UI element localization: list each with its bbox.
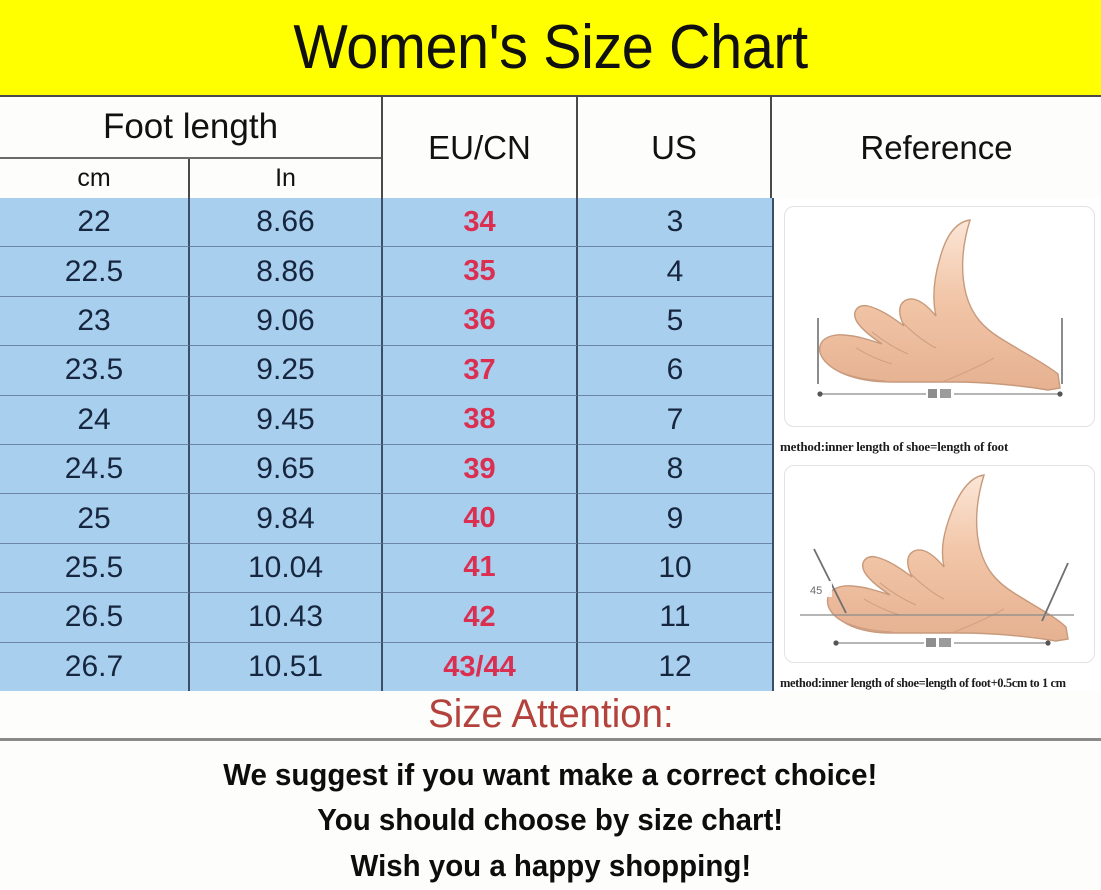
cell-cm: 23.5 — [0, 346, 190, 395]
cell-in: 10.04 — [190, 544, 383, 593]
cell-eu: 38 — [383, 396, 578, 445]
foot-length-subheaders: cm In — [0, 159, 381, 198]
cell-us: 10 — [578, 544, 772, 593]
page-title: Women's Size Chart — [293, 17, 807, 79]
note-line: You should choose by size chart! — [318, 797, 784, 842]
cell-eu: 36 — [383, 297, 578, 346]
table-body: 22 8.66 34 3 22.5 8.86 35 4 23 9.06 36 5 — [0, 198, 772, 693]
size-chart-page: Women's Size Chart Foot length cm In EU/… — [0, 0, 1101, 890]
size-table: Foot length cm In EU/CN US Reference 22 … — [0, 95, 1101, 691]
cell-eu: 35 — [383, 247, 578, 296]
cell-eu: 34 — [383, 198, 578, 247]
cell-eu: 37 — [383, 346, 578, 395]
cell-cm: 22 — [0, 198, 190, 247]
note-line: Wish you a happy shopping! — [350, 843, 751, 888]
cell-cm: 26.5 — [0, 593, 190, 642]
cell-eu: 41 — [383, 544, 578, 593]
cell-cm: 25 — [0, 494, 190, 543]
reference-image-1: method:inner length of shoe=length of fo… — [774, 198, 1101, 457]
reference-caption-2: method:inner length of shoe=length of fo… — [780, 676, 1101, 691]
cell-us: 7 — [578, 396, 772, 445]
column-header-in: In — [190, 159, 381, 198]
reference-caption-1: method:inner length of shoe=length of fo… — [780, 439, 1101, 455]
foot-length-label: Foot length — [0, 97, 381, 159]
cell-us: 9 — [578, 494, 772, 543]
cell-cm: 23 — [0, 297, 190, 346]
reference-image-2: 45 method:inner length of shoe=length of… — [774, 457, 1101, 693]
cell-in: 9.45 — [190, 396, 383, 445]
foot-length-group-header: Foot length cm In — [0, 97, 383, 198]
cell-us: 3 — [578, 198, 772, 247]
svg-text:45: 45 — [810, 585, 822, 597]
reference-column: method:inner length of shoe=length of fo… — [772, 198, 1101, 693]
attention-notes: We suggest if you want make a correct ch… — [0, 744, 1101, 890]
cell-us: 5 — [578, 297, 772, 346]
cell-eu: 43/44 — [383, 643, 578, 692]
cell-in: 9.06 — [190, 297, 383, 346]
column-header-us: US — [578, 97, 772, 198]
cell-eu: 42 — [383, 593, 578, 642]
note-line: We suggest if you want make a correct ch… — [223, 752, 877, 797]
cell-in: 10.43 — [190, 593, 383, 642]
cell-eu: 40 — [383, 494, 578, 543]
cell-cm: 24.5 — [0, 445, 190, 494]
size-attention-bar: Size Attention: — [0, 691, 1101, 741]
cell-us: 11 — [578, 593, 772, 642]
cell-cm: 22.5 — [0, 247, 190, 296]
foot-side-view-angled-icon: 45 — [774, 457, 1101, 693]
cell-cm: 26.7 — [0, 643, 190, 692]
cell-in: 9.65 — [190, 445, 383, 494]
cell-eu: 39 — [383, 445, 578, 494]
title-banner: Women's Size Chart — [0, 0, 1101, 95]
cell-in: 8.66 — [190, 198, 383, 247]
cell-in: 8.86 — [190, 247, 383, 296]
cell-in: 9.25 — [190, 346, 383, 395]
foot-side-view-icon — [774, 198, 1101, 457]
cell-us: 8 — [578, 445, 772, 494]
column-header-eu-cn: EU/CN — [383, 97, 578, 198]
column-header-reference: Reference — [772, 97, 1101, 198]
column-header-cm: cm — [0, 159, 190, 198]
cell-us: 12 — [578, 643, 772, 692]
cell-cm: 25.5 — [0, 544, 190, 593]
cell-us: 6 — [578, 346, 772, 395]
cell-in: 10.51 — [190, 643, 383, 692]
cell-cm: 24 — [0, 396, 190, 445]
size-attention-heading: Size Attention: — [428, 692, 674, 737]
cell-in: 9.84 — [190, 494, 383, 543]
cell-us: 4 — [578, 247, 772, 296]
table-header-row: Foot length cm In EU/CN US Reference — [0, 97, 1101, 198]
